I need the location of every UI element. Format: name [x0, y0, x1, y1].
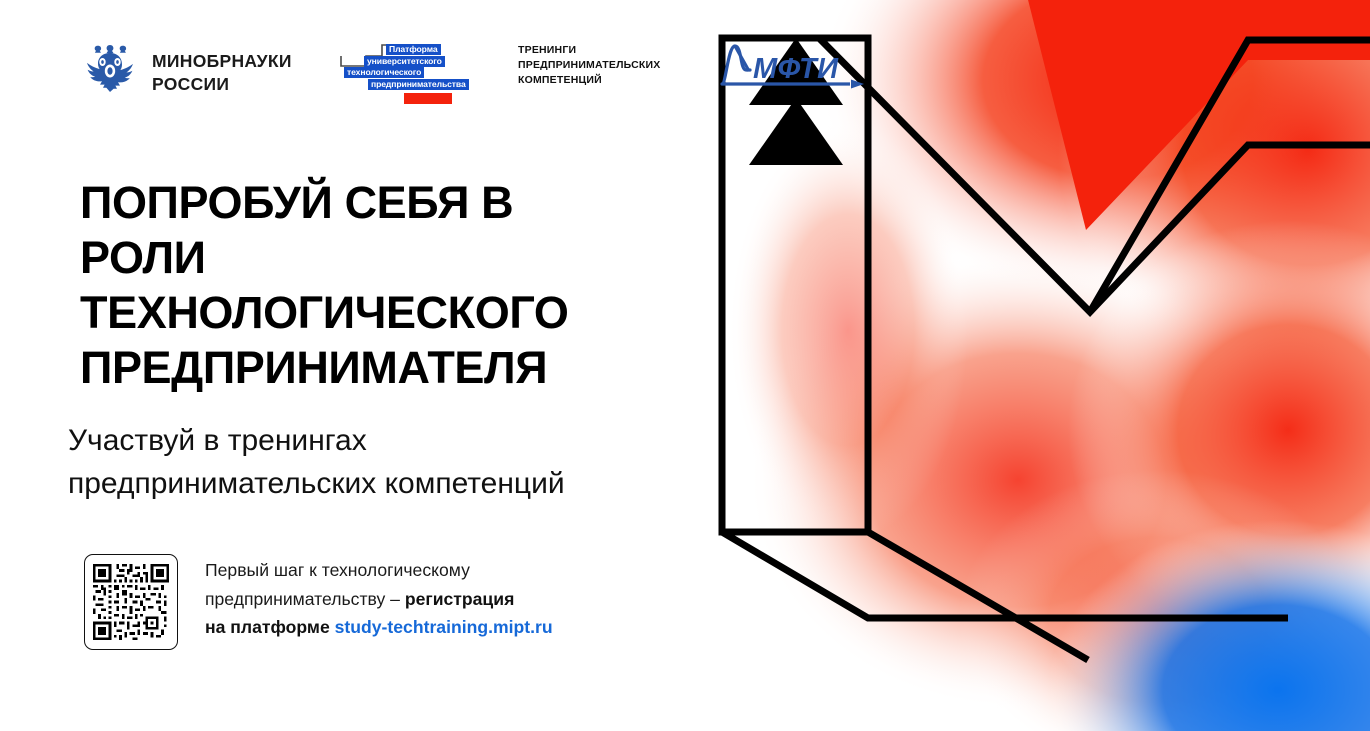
- platform-bar-2: университетского: [364, 56, 445, 67]
- platform-bar-4: предпринимательства: [368, 79, 469, 90]
- background-artwork: [688, 0, 1370, 731]
- svg-text:МФТИ: МФТИ: [753, 53, 839, 85]
- cta-text: Первый шаг к технологическому предприним…: [205, 556, 765, 642]
- double-headed-eagle-emblem-icon: [80, 38, 140, 107]
- ministry-logo-text: МИНОБРНАУКИ РОССИИ: [152, 50, 292, 95]
- cta-line-2: предпринимательству –: [205, 589, 405, 609]
- platform-bar-3: технологического: [344, 67, 424, 78]
- training-competencies-logo: ТРЕНИНГИ ПРЕДПРИНИМАТЕЛЬСКИХ КОМПЕТЕНЦИЙ: [518, 43, 660, 88]
- platform-red-accent: [404, 93, 452, 104]
- ministry-logo: МИНОБРНАУКИ РОССИИ: [80, 38, 292, 107]
- page-subtitle: Участвуй в тренингах предпринимательских…: [68, 420, 758, 505]
- poster-canvas: МИНОБРНАУКИ РОССИИ Платформа университет…: [0, 0, 1370, 731]
- cta-line-1: Первый шаг к технологическому: [205, 560, 470, 580]
- platform-url-link[interactable]: study-techtraining.mipt.ru: [335, 617, 553, 637]
- cta-bold-registration: регистрация: [405, 589, 515, 609]
- qr-code[interactable]: [84, 554, 178, 650]
- platform-bar-1: Платформа: [386, 44, 441, 55]
- cta-bold-platform: на платформе: [205, 617, 335, 637]
- page-headline: ПОПРОБУЙ СЕБЯ В РОЛИ ТЕХНОЛОГИЧЕСКОГО ПР…: [80, 176, 680, 396]
- logo-row: МИНОБРНАУКИ РОССИИ Платформа университет…: [0, 36, 1370, 108]
- mipt-logo: МФТИ: [718, 40, 866, 95]
- platform-logo: Платформа университетского технологическ…: [336, 42, 484, 102]
